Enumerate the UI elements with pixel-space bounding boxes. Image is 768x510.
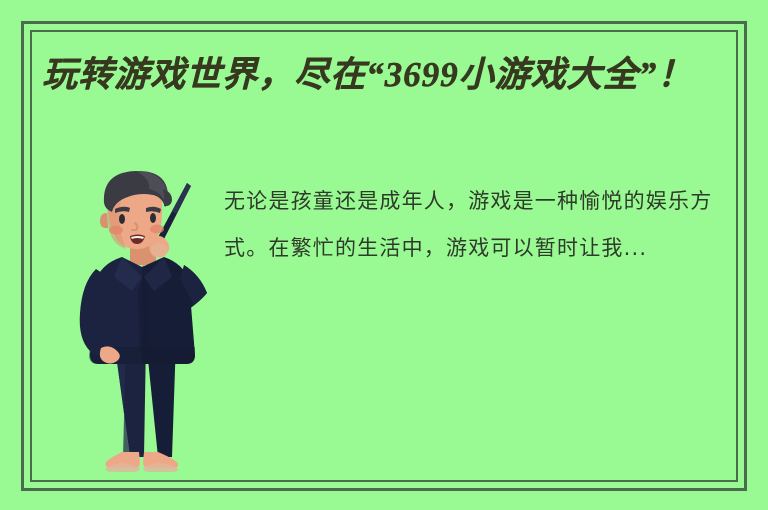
illustration-cartoon-presenter (60, 165, 230, 490)
body-paragraph: 无论是孩童还是成年人，游戏是一种愉悦的娱乐方式。在繁忙的生活中，游戏可以暂时让我… (224, 178, 720, 272)
promo-card: 玩转游戏世界，尽在“3699小游戏大全”！ 无论是孩童还是成年人，游戏是一种愉悦… (0, 0, 768, 510)
page-title: 玩转游戏世界，尽在“3699小游戏大全”！ (42, 52, 726, 98)
